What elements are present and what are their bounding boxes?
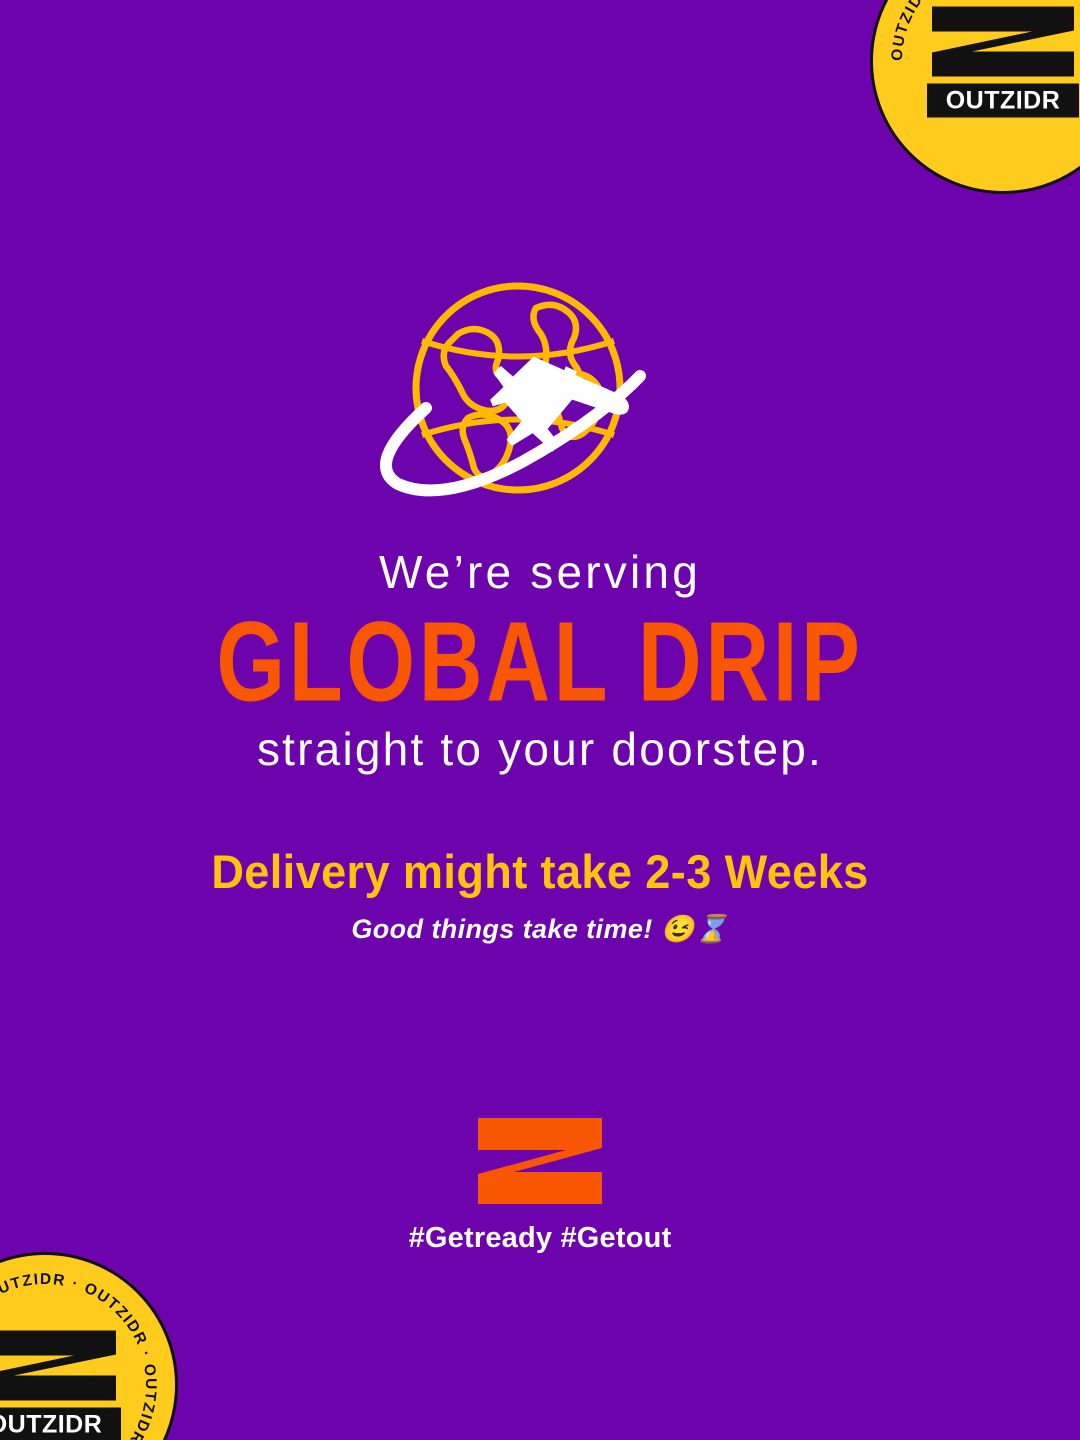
badge-z-logo-icon bbox=[928, 5, 1078, 79]
poster-footer: #Getready #Getout bbox=[0, 1118, 1080, 1255]
hashtags: #Getready #Getout bbox=[409, 1222, 672, 1255]
delivery-notice: Delivery might take 2-3 Weeks bbox=[22, 844, 1059, 899]
badge-wordmark: OUTZIDR bbox=[927, 84, 1079, 118]
brand-z-logo-icon bbox=[478, 1118, 602, 1204]
brand-badge-top-right: OUTZIDR · OUTZIDR · OUTZIDR · OUTZIDR · … bbox=[870, 0, 1080, 194]
promo-poster: OUTZIDR · OUTZIDR · OUTZIDR · OUTZIDR · … bbox=[0, 0, 1080, 1440]
globe-airplane-illustration bbox=[350, 268, 730, 518]
badge-z-logo-icon bbox=[0, 1329, 120, 1403]
reassurance-text: Good things take time! 😉⌛ bbox=[0, 913, 1080, 945]
badge-core: OUTZIDR bbox=[0, 1329, 124, 1440]
tagline-line-1: We’re serving bbox=[0, 548, 1080, 598]
badge-core: OUTZIDR bbox=[924, 5, 1080, 118]
headline: GLOBAL DRIP bbox=[43, 606, 1037, 719]
badge-wordmark: OUTZIDR bbox=[0, 1408, 121, 1440]
tagline-line-2: straight to your doorstep. bbox=[0, 724, 1080, 775]
poster-copy: We’re serving GLOBAL DRIP straight to yo… bbox=[0, 548, 1080, 945]
brand-badge-bottom-left: OUTZIDR · OUTZIDR · OUTZIDR · OUTZIDR · … bbox=[0, 1252, 178, 1440]
